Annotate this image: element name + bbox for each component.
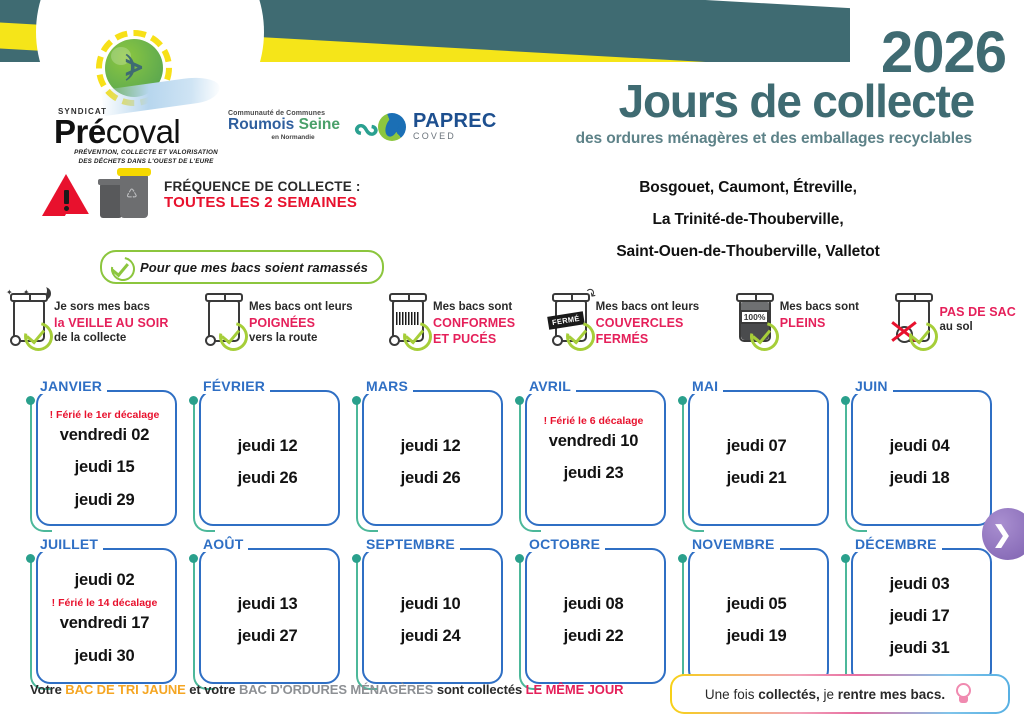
instruction-item: 100% Mes bacs sont PLEINS (734, 288, 859, 344)
bin-barcode-icon (387, 288, 429, 344)
precoval-tagline: PRÉVENTION, COLLECTE ET VALORISATION DES… (68, 149, 224, 166)
ramasses-text: Pour que mes bacs soient ramassés (140, 260, 368, 275)
collection-date: vendredi 02 (44, 419, 165, 451)
instruction-line3: ET PUCÉS (433, 331, 515, 347)
instruction-line2: CONFORMES (433, 315, 515, 331)
roumois-seine: Seine (299, 116, 340, 133)
collection-date: jeudi 18 (859, 462, 980, 494)
collection-date: jeudi 23 (533, 457, 654, 489)
instruction-line2: PAS DE SAC (939, 304, 1015, 320)
instruction-line1: Mes bacs ont leurs (596, 300, 700, 315)
month-card[interactable]: NOVEMBRE jeudi 05 jeudi 19 (682, 536, 831, 686)
instruction-line2: la VEILLE AU SOIR (54, 315, 168, 331)
instruction-line3: de la collecte (54, 331, 168, 346)
collection-date: jeudi 19 (696, 620, 817, 652)
footer-tip-box: Une fois collectés, je rentre mes bacs. (670, 674, 1010, 714)
check-icon (909, 322, 934, 347)
commune-line: Bosgouet, Caumont, Étreville, (520, 172, 976, 204)
tip-text: Une fois collectés, je rentre mes bacs. (705, 687, 945, 702)
month-card[interactable]: MARS jeudi 12 jeudi 26 (356, 378, 505, 528)
month-name: AVRIL (529, 378, 576, 394)
instruction-line2: COUVERCLES (596, 315, 700, 331)
collection-date: jeudi 02 (44, 564, 165, 596)
month-dot-icon (352, 396, 361, 405)
month-card[interactable]: AVRIL ! Férié le 6 décalage vendredi 10 … (519, 378, 668, 528)
precoval-wordmark: Précoval (54, 116, 224, 147)
paprec-sub: COVED (413, 131, 497, 141)
collection-calendar: JANVIER ! Férié le 1er décalage vendredi… (30, 378, 994, 686)
month-dot-icon (352, 554, 361, 563)
bin-night-icon: ✦ ✦ (8, 288, 50, 344)
footer-same-day: LE MÊME JOUR (526, 682, 624, 697)
month-dot-icon (26, 554, 35, 563)
collection-date: jeudi 17 (859, 600, 980, 632)
month-name: JUIN (855, 378, 893, 394)
collection-date: jeudi 12 (370, 430, 491, 462)
instruction-line1: Mes bacs sont (780, 300, 859, 315)
commune-line: Saint-Ouen-de-Thouberville, Valletot (520, 236, 976, 268)
month-card[interactable]: JANVIER ! Férié le 1er décalage vendredi… (30, 378, 179, 528)
tip-part1: Une fois (705, 687, 758, 702)
check-icon (24, 322, 49, 347)
check-icon (750, 322, 775, 347)
month-dot-icon (515, 554, 524, 563)
collection-date: jeudi 05 (696, 588, 817, 620)
collection-date: vendredi 10 (533, 425, 654, 457)
paprec-name: PAPREC (413, 112, 497, 131)
check-icon (110, 256, 132, 278)
collection-date: jeudi 31 (859, 632, 980, 664)
month-name: JANVIER (40, 378, 107, 394)
month-name: JUILLET (40, 536, 103, 552)
roumois-roumois: Roumois (228, 116, 299, 133)
collection-date: jeudi 29 (44, 484, 165, 516)
collection-date: jeudi 08 (533, 588, 654, 620)
instruction-line3: FERMÉS (596, 331, 700, 347)
instruction-line1: Mes bacs ont leurs (249, 300, 353, 315)
collection-date: jeudi 27 (207, 620, 328, 652)
frequency-block: FRÉQUENCE DE COLLECTE : TOUTES LES 2 SEM… (42, 172, 361, 218)
month-dot-icon (26, 396, 35, 405)
precoval-pre: Pré (54, 113, 106, 150)
communes-list: Bosgouet, Caumont, Étreville, La Trinité… (520, 172, 976, 267)
month-dot-icon (841, 554, 850, 563)
month-dot-icon (515, 396, 524, 405)
tip-bold2: rentre mes bacs. (838, 687, 945, 702)
instruction-item: Mes bacs ont leurs POIGNÉES vers la rout… (203, 288, 353, 345)
footer-yellow-bin: BAC DE TRI JAUNE (65, 682, 185, 697)
bin-closed-lid-icon: ↷ FERMÉ (550, 288, 592, 344)
no-bag-icon (893, 288, 935, 344)
month-name: OCTOBRE (529, 536, 605, 552)
instructions-row: ✦ ✦ Je sors mes bacs la VEILLE AU SOIR d… (8, 288, 1016, 347)
footer-text-1: Votre (30, 682, 65, 697)
instruction-item: Mes bacs sont CONFORMES ET PUCÉS (387, 288, 515, 347)
collection-date: jeudi 26 (370, 462, 491, 494)
month-name: MAI (692, 378, 723, 394)
frequency-value: TOUTES LES 2 SEMAINES (164, 194, 361, 211)
collection-date: jeudi 26 (207, 462, 328, 494)
page-subtitle: des ordures ménagères et des emballages … (576, 130, 972, 148)
footer-grey-bin: BAC D'ORDURES MÉNAGÈRES (239, 682, 433, 697)
instruction-line3: vers la route (249, 331, 353, 346)
month-dot-icon (841, 396, 850, 405)
collection-date: jeudi 10 (370, 588, 491, 620)
collection-date: jeudi 22 (533, 620, 654, 652)
tip-bold1: collectés, (758, 687, 820, 702)
collection-date: jeudi 13 (207, 588, 328, 620)
tip-part2: je (820, 687, 838, 702)
month-name: DÉCEMBRE (855, 536, 942, 552)
collection-date: jeudi 04 (859, 430, 980, 462)
footer-text-3: sont collectés (433, 682, 525, 697)
month-dot-icon (678, 396, 687, 405)
month-dot-icon (678, 554, 687, 563)
month-dot-icon (189, 554, 198, 563)
month-card[interactable]: SEPTEMBRE jeudi 10 jeudi 24 (356, 536, 505, 686)
month-name: MARS (366, 378, 413, 394)
chevron-right-icon: ❯ (992, 521, 1011, 548)
commune-line: La Trinité-de-Thouberville, (520, 204, 976, 236)
instruction-item: ↷ FERMÉ Mes bacs ont leurs COUVERCLES FE… (550, 288, 700, 347)
instruction-item: ✦ ✦ Je sors mes bacs la VEILLE AU SOIR d… (8, 288, 168, 345)
warning-triangle-icon (42, 174, 90, 216)
month-card[interactable]: MAI jeudi 07 jeudi 21 (682, 378, 831, 528)
bin-full-icon: 100% (734, 288, 776, 344)
month-name: FÉVRIER (203, 378, 270, 394)
instruction-line1: Je sors mes bacs (54, 300, 168, 315)
month-card[interactable]: JUIN jeudi 04 jeudi 18 (845, 378, 994, 528)
collection-date: jeudi 03 (859, 568, 980, 600)
lightbulb-icon (953, 682, 975, 706)
check-icon (219, 322, 244, 347)
month-card[interactable]: FÉVRIER jeudi 12 jeudi 26 (193, 378, 342, 528)
roumois-seine-logo: Communauté de Communes Roumois Seine en … (228, 110, 358, 141)
instruction-line2: PLEINS (780, 315, 859, 331)
roumois-line2: Roumois Seine (228, 117, 358, 133)
paprec-logo: PAPREC COVED (378, 112, 497, 141)
paprec-globe-icon (378, 113, 406, 141)
precoval-logo: ⦔ SYNDICAT Précoval PRÉVENTION, COLLECTE… (44, 30, 224, 166)
instruction-line3: au sol (939, 320, 1015, 335)
instruction-item: PAS DE SAC au sol (893, 288, 1015, 344)
collection-date: jeudi 24 (370, 620, 491, 652)
month-name: AOÛT (203, 536, 248, 552)
footer-note-left: Votre BAC DE TRI JAUNE et votre BAC D'OR… (30, 682, 623, 697)
instruction-line2: POIGNÉES (249, 315, 353, 331)
page-title: Jours de collecte (619, 78, 974, 124)
check-icon (566, 322, 591, 347)
month-name: SEPTEMBRE (366, 536, 460, 552)
collection-date: vendredi 17 (44, 607, 165, 639)
check-icon (403, 322, 428, 347)
footer-text-2: et votre (186, 682, 239, 697)
year-label: 2026 (881, 24, 1006, 82)
month-card[interactable]: OCTOBRE jeudi 08 jeudi 22 (519, 536, 668, 686)
collection-date: jeudi 30 (44, 640, 165, 672)
instruction-line1: Mes bacs sont (433, 300, 515, 315)
month-name: NOVEMBRE (692, 536, 780, 552)
month-dot-icon (189, 396, 198, 405)
collection-date: jeudi 07 (696, 430, 817, 462)
ramasses-badge: Pour que mes bacs soient ramassés (100, 250, 384, 284)
two-bins-icon (100, 172, 154, 218)
collection-date: jeudi 12 (207, 430, 328, 462)
roumois-line3: en Normandie (228, 134, 358, 141)
bin-handles-icon (203, 288, 245, 344)
month-card[interactable]: JUILLET jeudi 02 ! Férié le 14 décalage … (30, 536, 179, 686)
precoval-coval: coval (106, 113, 181, 150)
collection-date: jeudi 21 (696, 462, 817, 494)
month-card[interactable]: DÉCEMBRE jeudi 03 jeudi 17 jeudi 31 (845, 536, 994, 686)
collection-date: jeudi 15 (44, 451, 165, 483)
month-card[interactable]: AOÛT jeudi 13 jeudi 27 (193, 536, 342, 686)
frequency-label: FRÉQUENCE DE COLLECTE : (164, 179, 361, 194)
